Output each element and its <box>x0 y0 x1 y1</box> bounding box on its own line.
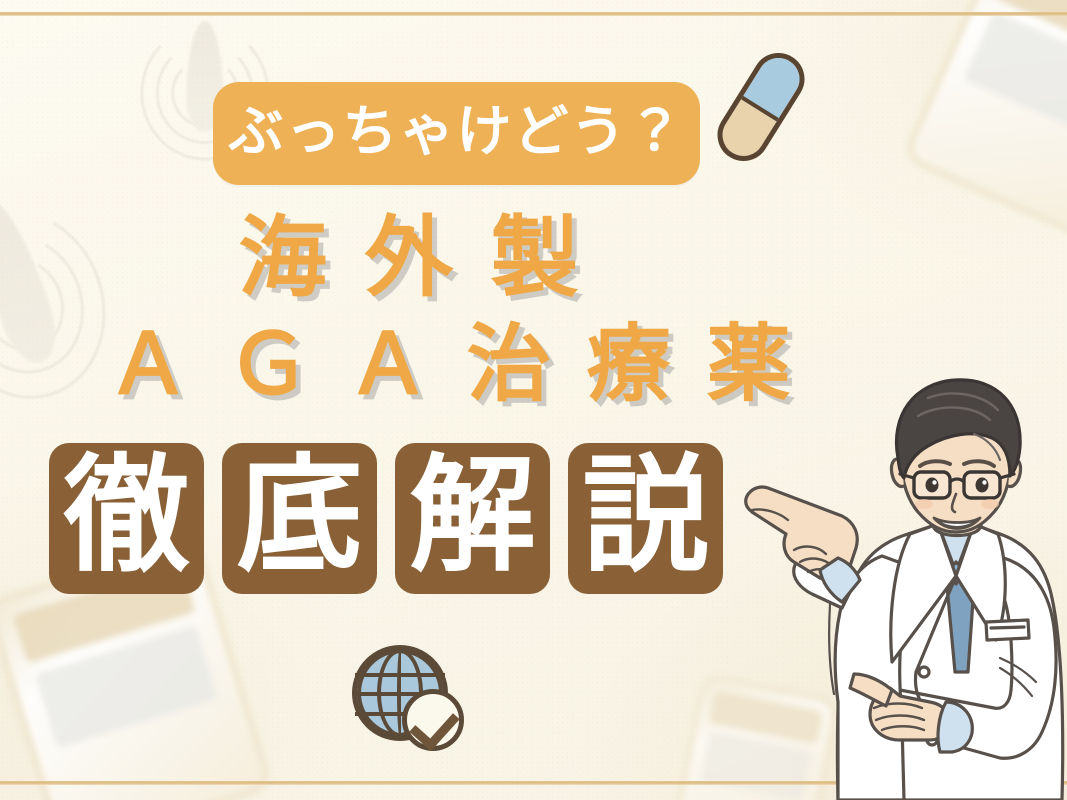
emphasis-box: 説 <box>568 443 723 594</box>
emphasis-box: 解 <box>395 443 550 594</box>
headline-badge: ぶっちゃけどう？ <box>213 82 700 185</box>
emphasis-char: 底 <box>237 453 363 579</box>
emphasis-row: 徹 底 解 説 <box>49 443 723 594</box>
doctor-illustration <box>742 372 1067 800</box>
emphasis-char: 説 <box>583 453 709 579</box>
headline-badge-text: ぶっちゃけどう？ <box>228 104 684 159</box>
headline-line-1: 海外製 <box>0 214 1067 302</box>
emphasis-box: 底 <box>222 443 377 594</box>
poster-canvas: ぶっちゃけどう？ 海外製 ＡＧＡ治療薬 徹 底 解 説 <box>0 0 1067 800</box>
top-rule <box>0 12 1067 16</box>
emphasis-char: 徹 <box>64 453 190 579</box>
emphasis-char: 解 <box>410 453 536 579</box>
emphasis-box: 徹 <box>49 443 204 594</box>
